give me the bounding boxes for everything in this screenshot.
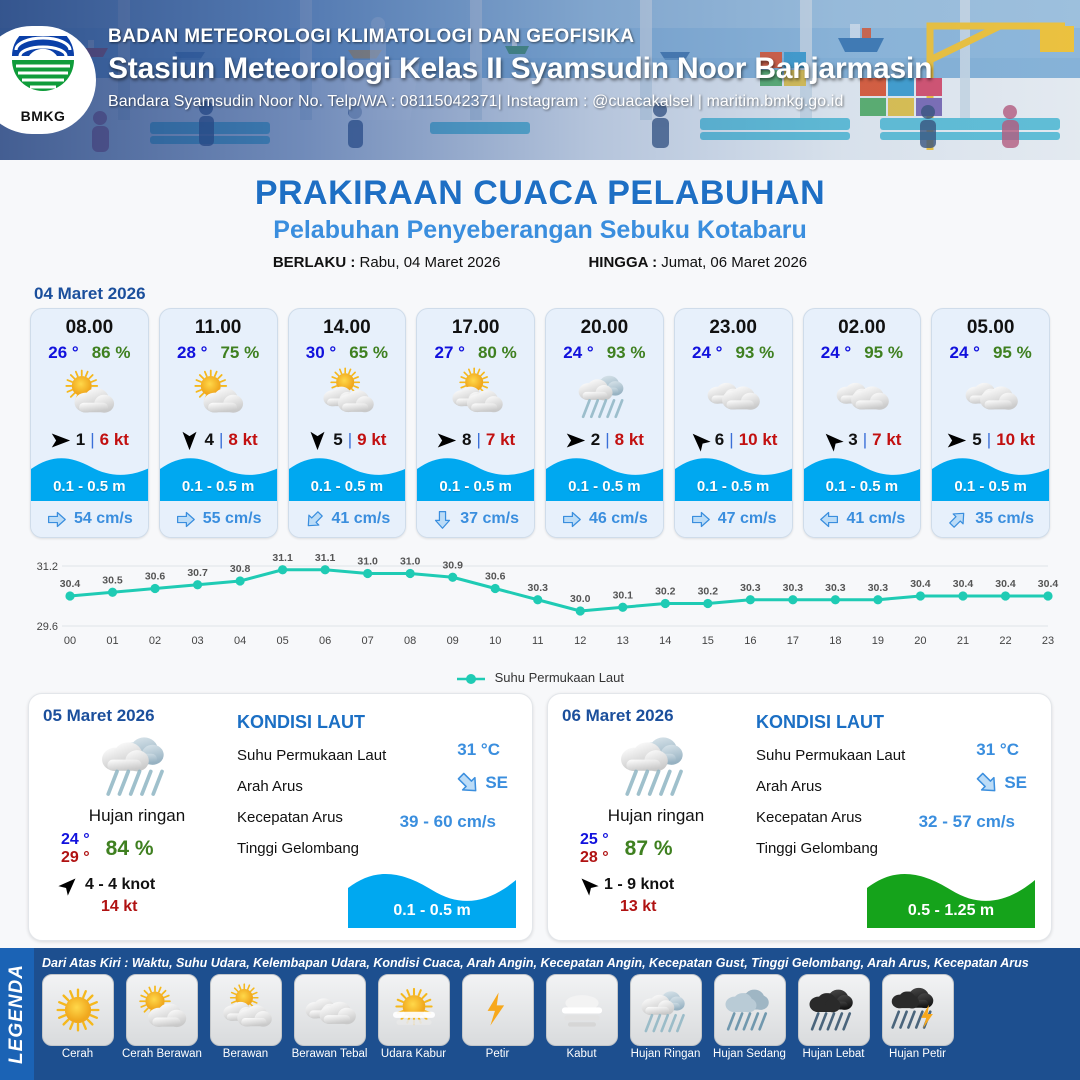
daily-forecast-panel: 06 Maret 2026 Hujan ringan 25 ° 28 ° — [547, 693, 1052, 941]
panel-humidity: 87 % — [625, 837, 673, 861]
chart-legend: Suhu Permukaan Laut — [0, 670, 1080, 685]
card-humidity: 65 % — [349, 343, 388, 363]
card-wind: 8 | 7 kt — [417, 425, 534, 455]
card-wave: 0.1 - 0.5 m — [675, 453, 792, 501]
card-current: 46 cm/s — [546, 501, 663, 537]
card-wind: 5 | 10 kt — [932, 425, 1049, 455]
card-wind-separator: | — [477, 430, 481, 450]
legend-item-label: Berawan Tebal — [290, 1048, 369, 1060]
card-weather-icon — [804, 365, 921, 425]
card-humidity: 93 % — [607, 343, 646, 363]
card-wave: 0.1 - 0.5 m — [160, 453, 277, 501]
daily-forecast-panel: 05 Maret 2026 Hujan ringan 24 ° 29 ° — [28, 693, 533, 941]
card-humidity: 80 % — [478, 343, 517, 363]
svg-text:10: 10 — [489, 635, 501, 647]
svg-text:30.5: 30.5 — [102, 574, 123, 586]
card-weather-icon — [932, 365, 1049, 425]
card-wind-value: 3 — [848, 430, 857, 450]
card-current-speed: 41 cm/s — [332, 510, 391, 528]
card-wind-speed: 10 kt — [739, 430, 778, 450]
current-direction-icon — [819, 509, 840, 530]
svg-text:30.6: 30.6 — [485, 571, 506, 583]
current-direction-icon — [175, 509, 196, 530]
card-weather-icon — [417, 365, 534, 425]
svg-text:00: 00 — [64, 635, 76, 647]
legend-item-icon — [882, 974, 954, 1046]
legend-item: Hujan Ringan — [626, 974, 705, 1060]
sea-item-label-wave: Tinggi Gelombang — [756, 840, 1037, 857]
card-wave: 0.1 - 0.5 m — [417, 453, 534, 501]
card-wind: 5 | 9 kt — [289, 425, 406, 455]
card-weather-icon — [289, 365, 406, 425]
svg-text:30.8: 30.8 — [230, 563, 251, 575]
svg-text:29.6: 29.6 — [37, 621, 58, 633]
card-temperature: 24 ° — [563, 343, 593, 363]
card-humidity: 75 % — [220, 343, 259, 363]
hourly-card: 08.00 26 ° 86 % 1 | 6 kt — [30, 308, 149, 538]
svg-text:01: 01 — [106, 635, 118, 647]
card-current-speed: 46 cm/s — [589, 510, 648, 528]
card-wave-height: 0.1 - 0.5 m — [932, 478, 1049, 495]
sea-conditions-title: KONDISI LAUT — [756, 712, 1037, 733]
legend-item-label: Petir — [458, 1048, 537, 1060]
card-wave: 0.1 - 0.5 m — [932, 453, 1049, 501]
sea-value-current-dir-wrap: SE — [455, 770, 508, 796]
panel-wave-box: 0.5 - 1.25 m — [867, 866, 1035, 928]
svg-text:07: 07 — [362, 635, 374, 647]
svg-text:30.2: 30.2 — [655, 586, 676, 598]
current-direction-icon — [46, 509, 67, 530]
panel-condition: Hujan ringan — [562, 806, 750, 826]
sea-value-sst: 31 °C — [457, 740, 500, 760]
svg-text:14: 14 — [659, 635, 671, 647]
panel-right: KONDISI LAUT Suhu Permukaan Laut Arah Ar… — [750, 706, 1037, 928]
sea-value-current-speed: 39 - 60 cm/s — [400, 812, 496, 832]
card-humidity: 95 % — [864, 343, 903, 363]
card-wind: 1 | 6 kt — [31, 425, 148, 455]
panel-wind: 1 - 9 knot — [562, 875, 750, 895]
svg-text:31.0: 31.0 — [400, 556, 421, 568]
card-current: 47 cm/s — [675, 501, 792, 537]
panel-temps: 24 ° 29 ° 84 % — [43, 831, 231, 867]
sea-conditions-title: KONDISI LAUT — [237, 712, 518, 733]
panel-condition: Hujan ringan — [43, 806, 231, 826]
page-subtitle: Pelabuhan Penyeberangan Sebuku Kotabaru — [0, 216, 1080, 245]
card-temperature: 27 ° — [435, 343, 465, 363]
bmkg-logo: BMKG — [0, 26, 96, 134]
legend-item: Kabut — [542, 974, 621, 1060]
legend-item-icon — [714, 974, 786, 1046]
legend-item: Petir — [458, 974, 537, 1060]
svg-text:30.4: 30.4 — [910, 578, 931, 590]
legend-item-label: Hujan Lebat — [794, 1048, 873, 1060]
svg-text:06: 06 — [319, 635, 331, 647]
legend-item-icon — [126, 974, 198, 1046]
wind-direction-icon — [574, 871, 602, 899]
svg-text:30.3: 30.3 — [528, 582, 549, 594]
card-current-speed: 55 cm/s — [203, 510, 262, 528]
card-temperature: 26 ° — [48, 343, 78, 363]
card-time: 23.00 — [675, 309, 792, 339]
card-temperature: 28 ° — [177, 343, 207, 363]
panel-humidity: 84 % — [106, 837, 154, 861]
card-weather-icon — [160, 365, 277, 425]
panel-weather-icon — [562, 724, 750, 804]
legend-item-label: Kabut — [542, 1048, 621, 1060]
card-wind-separator: | — [729, 430, 733, 450]
card-wind-speed: 9 kt — [357, 430, 386, 450]
card-weather-icon — [675, 365, 792, 425]
svg-text:31.1: 31.1 — [315, 552, 336, 564]
sea-value-current-dir: SE — [485, 773, 508, 793]
card-humidity: 93 % — [735, 343, 774, 363]
valid-from-label: BERLAKU : — [273, 254, 356, 271]
card-wind: 2 | 8 kt — [546, 425, 663, 455]
card-wave: 0.1 - 0.5 m — [31, 453, 148, 501]
sea-value-current-dir-wrap: SE — [974, 770, 1027, 796]
card-current: 54 cm/s — [31, 501, 148, 537]
card-time: 02.00 — [804, 309, 921, 339]
card-temperature: 24 ° — [692, 343, 722, 363]
wind-direction-icon — [565, 430, 586, 451]
wind-direction-icon — [946, 430, 967, 451]
svg-text:30.1: 30.1 — [613, 589, 634, 601]
card-current-speed: 47 cm/s — [718, 510, 777, 528]
agency-name: BADAN METEOROLOGI KLIMATOLOGI DAN GEOFIS… — [108, 26, 932, 48]
card-wind-value: 5 — [972, 430, 981, 450]
card-wave-height: 0.1 - 0.5 m — [31, 478, 148, 495]
wind-direction-icon — [436, 430, 457, 451]
wind-direction-icon — [50, 430, 71, 451]
current-direction-icon — [690, 509, 711, 530]
svg-text:30.3: 30.3 — [740, 582, 761, 594]
card-wind-speed: 6 kt — [100, 430, 129, 450]
legend-item-label: Berawan — [206, 1048, 285, 1060]
card-temperature: 24 ° — [821, 343, 851, 363]
panel-wind: 4 - 4 knot — [43, 875, 231, 895]
card-wave-height: 0.1 - 0.5 m — [160, 478, 277, 495]
panel-wind-range: 4 - 4 knot — [85, 876, 155, 894]
card-temperature: 30 ° — [306, 343, 336, 363]
bmkg-logo-mark — [4, 36, 82, 108]
hourly-card: 23.00 24 ° 93 % 6 | 10 kt — [674, 308, 793, 538]
valid-from: BERLAKU : Rabu, 04 Maret 2026 — [273, 254, 501, 271]
svg-text:31.2: 31.2 — [37, 561, 58, 573]
panel-gust: 14 kt — [43, 898, 231, 916]
wind-direction-icon — [684, 425, 714, 455]
card-wind-separator: | — [863, 430, 867, 450]
legend-item-icon — [462, 974, 534, 1046]
card-time: 20.00 — [546, 309, 663, 339]
panel-weather-icon — [43, 724, 231, 804]
card-weather-icon — [31, 365, 148, 425]
panel-temp-min: 25 ° — [580, 831, 609, 849]
hourly-forecast-row: 08.00 26 ° 86 % 1 | 6 kt — [0, 308, 1080, 538]
card-wind-value: 1 — [76, 430, 85, 450]
svg-text:11: 11 — [532, 635, 543, 647]
svg-text:13: 13 — [617, 635, 629, 647]
bmkg-logo-text: BMKG — [4, 108, 82, 124]
wind-direction-icon — [818, 425, 848, 455]
svg-text:30.4: 30.4 — [1038, 578, 1059, 590]
current-direction-icon — [943, 504, 973, 534]
current-direction-icon — [299, 504, 329, 534]
card-temperature: 24 ° — [950, 343, 980, 363]
card-wind-value: 4 — [205, 430, 214, 450]
card-time: 17.00 — [417, 309, 534, 339]
legend-item: Berawan Tebal — [290, 974, 369, 1060]
card-wind-value: 2 — [591, 430, 600, 450]
card-current: 41 cm/s — [289, 501, 406, 537]
card-wave: 0.1 - 0.5 m — [804, 453, 921, 501]
legend-item: Hujan Petir — [878, 974, 957, 1060]
page-header: BMKG BADAN METEOROLOGI KLIMATOLOGI DAN G… — [0, 0, 1080, 160]
svg-text:16: 16 — [744, 635, 756, 647]
panel-left: 05 Maret 2026 Hujan ringan 24 ° 29 ° — [43, 706, 231, 928]
legend-item-label: Cerah — [38, 1048, 117, 1060]
legend-item: Hujan Lebat — [794, 974, 873, 1060]
svg-text:05: 05 — [276, 635, 288, 647]
card-time: 14.00 — [289, 309, 406, 339]
card-current: 35 cm/s — [932, 501, 1049, 537]
card-wave-height: 0.1 - 0.5 m — [417, 478, 534, 495]
hourly-card: 20.00 24 ° 93 % 2 | 8 kt — [545, 308, 664, 538]
hourly-card: 11.00 28 ° 75 % 4 | 8 kt — [159, 308, 278, 538]
current-direction-icon — [450, 765, 487, 802]
card-wind-separator: | — [90, 430, 94, 450]
legend-item-icon — [378, 974, 450, 1046]
hourly-card: 17.00 27 ° 80 % 8 | 7 kt — [416, 308, 535, 538]
legend-item: Udara Kabur — [374, 974, 453, 1060]
card-current-speed: 54 cm/s — [74, 510, 133, 528]
svg-text:17: 17 — [787, 635, 799, 647]
hourly-card: 05.00 24 ° 95 % 5 | 10 kt — [931, 308, 1050, 538]
card-wind-value: 5 — [333, 430, 342, 450]
card-time: 11.00 — [160, 309, 277, 339]
panel-temp-max: 29 ° — [61, 849, 90, 867]
card-humidity: 86 % — [92, 343, 131, 363]
card-wind: 6 | 10 kt — [675, 425, 792, 455]
svg-text:30.4: 30.4 — [995, 578, 1016, 590]
card-wind-speed: 8 kt — [615, 430, 644, 450]
svg-text:02: 02 — [149, 635, 161, 647]
panel-wave-box: 0.1 - 0.5 m — [348, 866, 516, 928]
svg-text:22: 22 — [999, 635, 1011, 647]
sst-chart: 31.229.630.40030.50130.60230.70330.80431… — [18, 548, 1062, 668]
card-time: 05.00 — [932, 309, 1049, 339]
card-current-speed: 41 cm/s — [847, 510, 906, 528]
valid-to-label: HINGGA : — [588, 254, 657, 271]
card-current-speed: 35 cm/s — [975, 510, 1034, 528]
card-time: 08.00 — [31, 309, 148, 339]
svg-text:30.3: 30.3 — [825, 582, 846, 594]
card-wave-height: 0.1 - 0.5 m — [289, 478, 406, 495]
svg-text:12: 12 — [574, 635, 586, 647]
svg-text:31.1: 31.1 — [272, 552, 293, 564]
svg-text:19: 19 — [872, 635, 884, 647]
svg-text:08: 08 — [404, 635, 416, 647]
card-wind: 3 | 7 kt — [804, 425, 921, 455]
card-wave: 0.1 - 0.5 m — [289, 453, 406, 501]
legend-item-label: Hujan Sedang — [710, 1048, 789, 1060]
valid-from-value: Rabu, 04 Maret 2026 — [360, 254, 501, 271]
svg-text:30.3: 30.3 — [868, 582, 889, 594]
svg-text:30.2: 30.2 — [698, 586, 719, 598]
legend-item-icon — [294, 974, 366, 1046]
card-wind-separator: | — [605, 430, 609, 450]
sea-value-current-speed: 32 - 57 cm/s — [919, 812, 1015, 832]
card-wave: 0.1 - 0.5 m — [546, 453, 663, 501]
card-wind-separator: | — [987, 430, 991, 450]
card-wind-speed: 7 kt — [486, 430, 515, 450]
legend-item-label: Hujan Ringan — [626, 1048, 705, 1060]
wind-direction-icon — [307, 430, 328, 451]
legend-marker-icon — [456, 673, 486, 685]
sea-item-label-wave: Tinggi Gelombang — [237, 840, 518, 857]
sea-value-wave: 0.5 - 1.25 m — [867, 902, 1035, 920]
svg-text:30.6: 30.6 — [145, 571, 166, 583]
svg-text:09: 09 — [447, 635, 459, 647]
svg-text:31.0: 31.0 — [357, 556, 378, 568]
hourly-card: 14.00 30 ° 65 % 5 | 9 kt — [288, 308, 407, 538]
legend-caption: Dari Atas Kiri : Waktu, Suhu Udara, Kele… — [38, 952, 1074, 974]
card-wind-speed: 10 kt — [996, 430, 1035, 450]
legend-item-label: Cerah Berawan — [122, 1048, 201, 1060]
legend-bar: LEGENDA Dari Atas Kiri : Waktu, Suhu Uda… — [0, 948, 1080, 1080]
legend-side-title-text: LEGENDA — [6, 964, 28, 1064]
panel-date: 06 Maret 2026 — [562, 706, 750, 726]
legend-side-title: LEGENDA — [0, 948, 34, 1080]
station-name: Stasiun Meteorologi Kelas II Syamsudin N… — [108, 52, 932, 86]
legend-item-icon — [42, 974, 114, 1046]
panel-wind-range: 1 - 9 knot — [604, 876, 674, 894]
card-wave-height: 0.1 - 0.5 m — [675, 478, 792, 495]
hourly-card: 02.00 24 ° 95 % 3 | 7 kt — [803, 308, 922, 538]
card-humidity: 95 % — [993, 343, 1032, 363]
card-wind-value: 8 — [462, 430, 471, 450]
svg-text:30.7: 30.7 — [187, 567, 208, 579]
panel-left: 06 Maret 2026 Hujan ringan 25 ° 28 ° — [562, 706, 750, 928]
sea-value-current-dir: SE — [1004, 773, 1027, 793]
card-current: 55 cm/s — [160, 501, 277, 537]
wind-direction-icon — [55, 871, 83, 899]
contact-info: Bandara Syamsudin Noor No. Telp/WA : 081… — [108, 93, 932, 111]
wind-direction-icon — [179, 430, 200, 451]
svg-text:15: 15 — [702, 635, 714, 647]
panel-gust: 13 kt — [562, 898, 750, 916]
svg-text:30.4: 30.4 — [60, 578, 81, 590]
legend-items: Cerah Cerah Berawan — [38, 974, 1074, 1060]
current-direction-icon — [432, 509, 453, 530]
legend-item-icon — [798, 974, 870, 1046]
legend-item-icon — [546, 974, 618, 1046]
svg-text:03: 03 — [191, 635, 203, 647]
legend-item: Cerah Berawan — [122, 974, 201, 1060]
card-wind-separator: | — [219, 430, 223, 450]
card-wave-height: 0.1 - 0.5 m — [804, 478, 921, 495]
svg-text:30.3: 30.3 — [783, 582, 804, 594]
card-current: 37 cm/s — [417, 501, 534, 537]
current-direction-icon — [969, 765, 1006, 802]
daily-panels-row: 05 Maret 2026 Hujan ringan 24 ° 29 ° — [0, 685, 1080, 941]
card-current: 41 cm/s — [804, 501, 921, 537]
card-weather-icon — [546, 365, 663, 425]
panel-temp-max: 28 ° — [580, 849, 609, 867]
svg-text:30.9: 30.9 — [442, 559, 463, 571]
sst-chart-svg: 31.229.630.40030.50130.60230.70330.80431… — [18, 548, 1062, 666]
legend-item: Berawan — [206, 974, 285, 1060]
svg-text:23: 23 — [1042, 635, 1054, 647]
card-wind-speed: 7 kt — [872, 430, 901, 450]
legend-item-label: Hujan Petir — [878, 1048, 957, 1060]
panel-temp-min: 24 ° — [61, 831, 90, 849]
card-wind-value: 6 — [715, 430, 724, 450]
chart-legend-label: Suhu Permukaan Laut — [495, 670, 624, 685]
valid-to: HINGGA : Jumat, 06 Maret 2026 — [588, 254, 807, 271]
current-direction-icon — [561, 509, 582, 530]
card-wind-speed: 8 kt — [228, 430, 257, 450]
svg-text:30.4: 30.4 — [953, 578, 974, 590]
card-current-speed: 37 cm/s — [460, 510, 519, 528]
card-wind-separator: | — [348, 430, 352, 450]
panel-temps: 25 ° 28 ° 87 % — [562, 831, 750, 867]
svg-text:21: 21 — [957, 635, 969, 647]
legend-item: Hujan Sedang — [710, 974, 789, 1060]
panel-right: KONDISI LAUT Suhu Permukaan Laut Arah Ar… — [231, 706, 518, 928]
svg-text:04: 04 — [234, 635, 246, 647]
panel-date: 05 Maret 2026 — [43, 706, 231, 726]
hourly-day-label: 04 Maret 2026 — [34, 284, 1080, 304]
title-block: PRAKIRAAN CUACA PELABUHAN Pelabuhan Peny… — [0, 160, 1080, 271]
svg-text:20: 20 — [914, 635, 926, 647]
legend-item-label: Udara Kabur — [374, 1048, 453, 1060]
card-wave-height: 0.1 - 0.5 m — [546, 478, 663, 495]
sea-value-wave: 0.1 - 0.5 m — [348, 902, 516, 920]
legend-item: Cerah — [38, 974, 117, 1060]
legend-item-icon — [210, 974, 282, 1046]
legend-item-icon — [630, 974, 702, 1046]
svg-text:18: 18 — [829, 635, 841, 647]
svg-text:30.0: 30.0 — [570, 593, 591, 605]
card-wind: 4 | 8 kt — [160, 425, 277, 455]
sea-value-sst: 31 °C — [976, 740, 1019, 760]
validity-row: BERLAKU : Rabu, 04 Maret 2026 HINGGA : J… — [0, 254, 1080, 271]
page-title: PRAKIRAAN CUACA PELABUHAN — [0, 174, 1080, 213]
valid-to-value: Jumat, 06 Maret 2026 — [661, 254, 807, 271]
